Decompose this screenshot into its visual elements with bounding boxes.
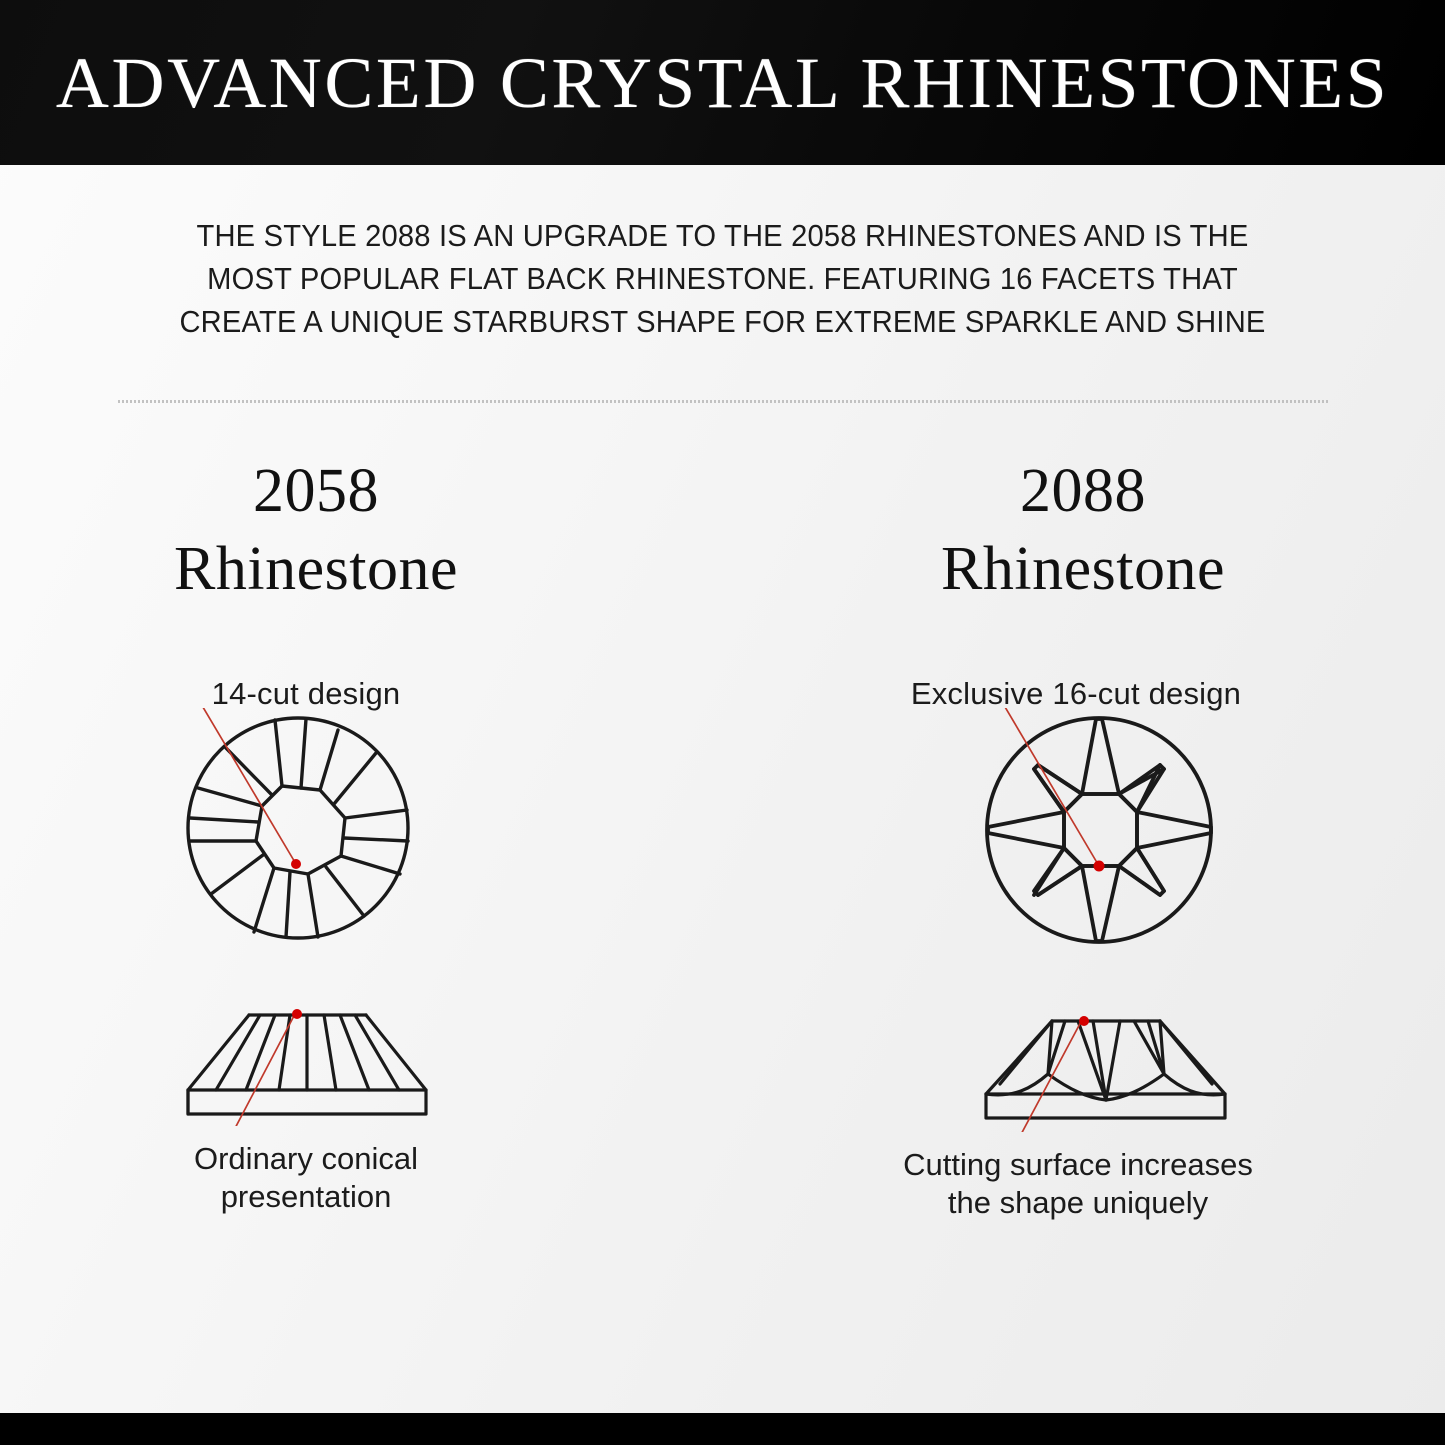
intro-paragraph: THE STYLE 2088 IS AN UPGRADE TO THE 2058… — [43, 214, 1401, 343]
caption-line-2: the shape uniquely — [722, 1184, 1434, 1222]
marker-dot — [1079, 1016, 1089, 1026]
caption-line-2: presentation — [0, 1178, 612, 1216]
starburst-16-facet-top-view-icon — [977, 708, 1221, 952]
marker-dot — [291, 859, 301, 869]
intro-line-2: MOST POPULAR FLAT BACK RHINESTONE. FEATU… — [43, 257, 1401, 300]
column-title-2088: 2088 Rhinestone — [722, 452, 1444, 608]
comparison-columns: 2058 Rhinestone 14-cut design — [0, 452, 1445, 1352]
round-14-facet-top-view-icon — [178, 708, 418, 948]
diagram-wrap-2088-side — [722, 1012, 1444, 1132]
cut-label-2088: Exclusive 16-cut design — [722, 676, 1444, 712]
marker-dot — [292, 1009, 302, 1019]
caption-2088: Cutting surface increases the shape uniq… — [722, 1146, 1444, 1222]
diagram-wrap-2058-top — [0, 708, 722, 948]
column-2088: 2088 Rhinestone Exclusive 16-cut design — [722, 452, 1444, 1352]
title-word: Rhinestone — [722, 530, 1444, 608]
faceted-starburst-side-profile-icon — [970, 1012, 1240, 1132]
cut-label-2058: 14-cut design — [0, 676, 722, 712]
caption-2058: Ordinary conical presentation — [0, 1140, 722, 1216]
caption-line-1: Ordinary conical — [0, 1140, 612, 1178]
footer-bar — [0, 1413, 1445, 1445]
diagram-wrap-2058-side — [0, 1006, 722, 1126]
caption-line-1: Cutting surface increases — [722, 1146, 1434, 1184]
marker-dot — [1094, 861, 1105, 872]
title-word: Rhinestone — [0, 530, 632, 608]
page-title: ADVANCED CRYSTAL RHINESTONES — [56, 47, 1389, 119]
intro-line-3: CREATE A UNIQUE STARBURST SHAPE FOR EXTR… — [43, 300, 1401, 343]
leader-line — [232, 1012, 296, 1126]
column-2058: 2058 Rhinestone 14-cut design — [0, 452, 722, 1352]
title-number: 2088 — [722, 452, 1444, 530]
column-title-2058: 2058 Rhinestone — [0, 452, 722, 608]
header-banner: ADVANCED CRYSTAL RHINESTONES — [0, 0, 1445, 165]
conical-side-profile-icon — [176, 1006, 438, 1126]
dotted-divider — [118, 400, 1328, 403]
diagram-wrap-2088-top — [722, 708, 1444, 952]
infographic-page: ADVANCED CRYSTAL RHINESTONES THE STYLE 2… — [0, 0, 1445, 1445]
title-number: 2058 — [0, 452, 632, 530]
intro-line-1: THE STYLE 2088 IS AN UPGRADE TO THE 2058… — [43, 214, 1401, 257]
